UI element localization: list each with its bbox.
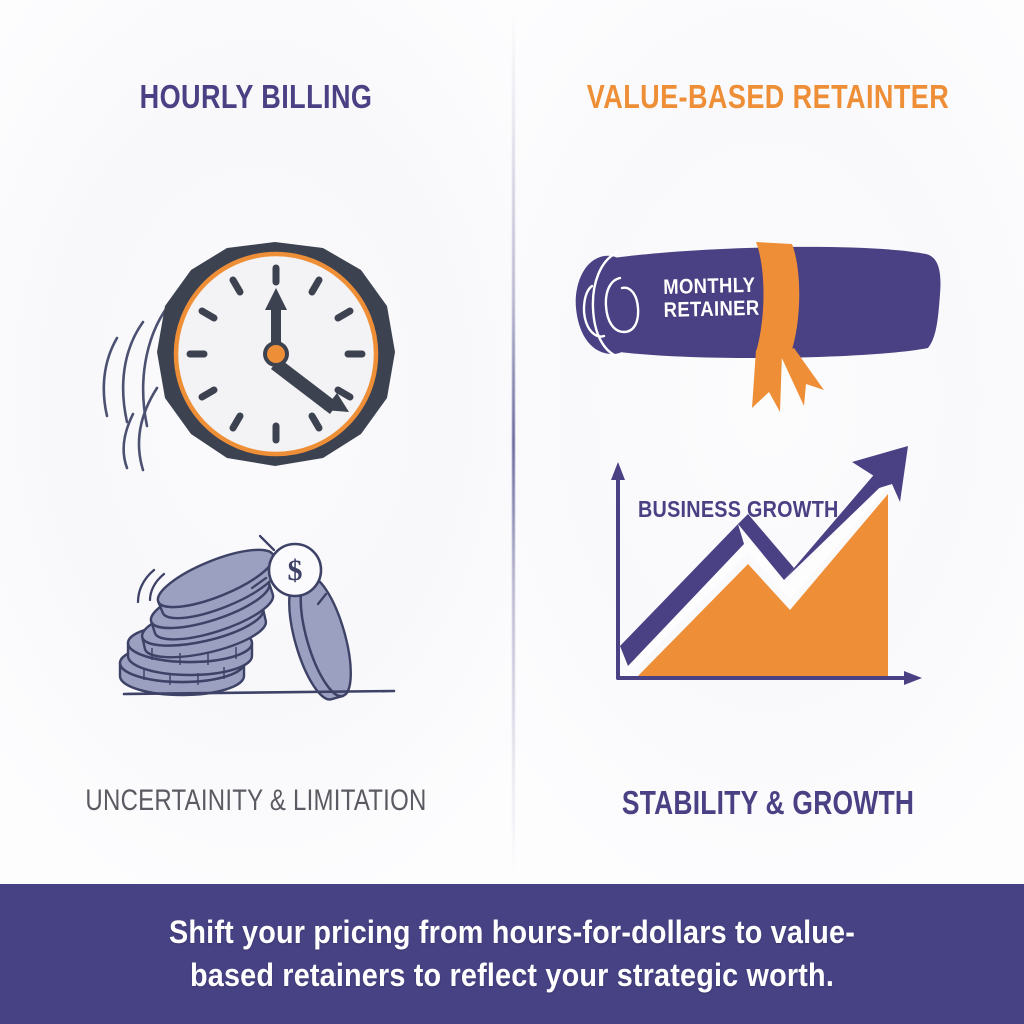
comparison-area: HOURLY BILLING: [0, 0, 1024, 884]
banner-text: Shift your pricing from hours-for-dollar…: [130, 911, 895, 997]
right-column-footer: STABILITY & GROWTH: [563, 784, 973, 822]
right-column-title: VALUE-BASED RETAINTER: [558, 78, 978, 116]
dollar-symbol: $: [288, 554, 303, 587]
business-growth-chart-icon: [598, 428, 938, 702]
business-growth-label: BUSINESS GROWTH: [638, 496, 839, 523]
shaking-clock-icon: [95, 218, 435, 518]
bottom-banner: Shift your pricing from hours-for-dollar…: [0, 884, 1024, 1024]
center-divider: [512, 10, 515, 874]
scroll-label: MONTHLY RETAINER: [663, 273, 769, 322]
falling-coins-icon: $: [108, 528, 408, 710]
monthly-retainer-scroll-icon: [566, 226, 958, 426]
infographic-canvas: HOURLY BILLING: [0, 0, 1024, 1024]
left-column-footer: UNCERTAINITY & LIMITATION: [51, 784, 461, 818]
left-column-title: HOURLY BILLING: [46, 78, 466, 116]
scroll-label-line-1: MONTHLY: [663, 273, 769, 299]
scroll-label-line-2: RETAINER: [663, 296, 769, 322]
